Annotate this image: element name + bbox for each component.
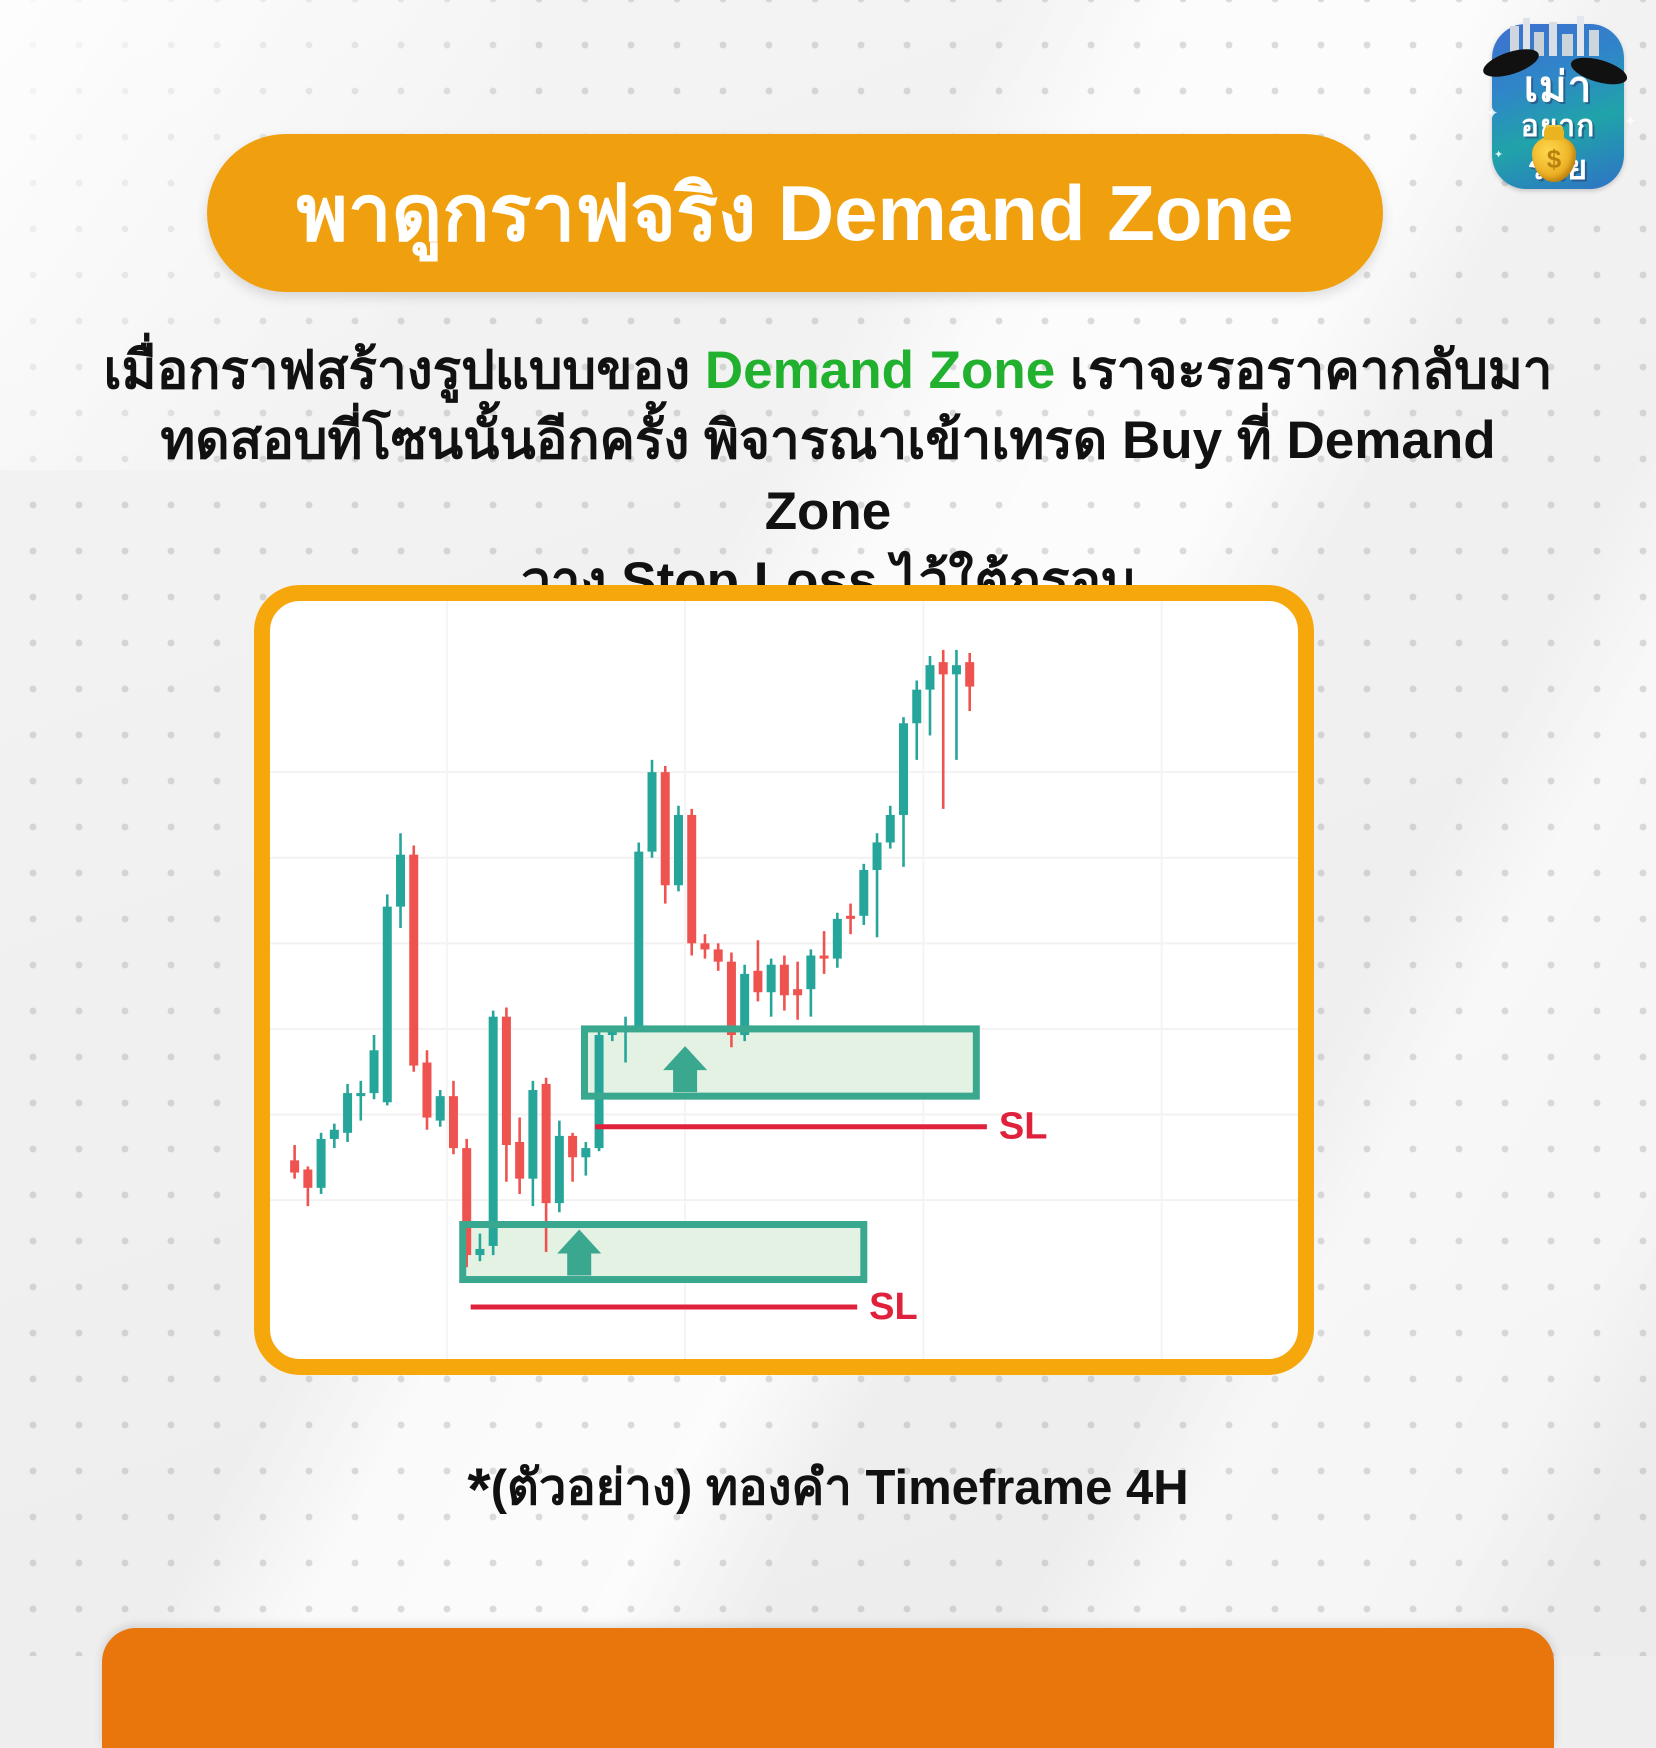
candle-body	[648, 772, 657, 851]
demand-zone-upper-fill	[585, 1029, 977, 1096]
chart-caption: *(ตัวอย่าง) ทองคำ Timeframe 4H	[0, 1448, 1656, 1526]
demand-zone-lower-fill	[463, 1225, 864, 1280]
candle-body	[925, 665, 934, 689]
candle-body	[542, 1084, 551, 1203]
body-line-2: ทดสอบที่โซนนั้นอีกครั้ง พิจารณาเข้าเทรด …	[90, 406, 1566, 547]
candle-body	[383, 907, 392, 1103]
candle-body	[714, 949, 723, 961]
bottom-accent-bar	[102, 1628, 1554, 1748]
candle-body	[767, 965, 776, 993]
candle-body	[409, 855, 418, 1066]
candle-body	[555, 1136, 564, 1203]
candle-body	[568, 1136, 577, 1157]
candle-body	[475, 1249, 484, 1255]
body-line-1-part-2: เราจะรอราคากลับมา	[1055, 341, 1552, 400]
asterisk-marker: *	[467, 1456, 490, 1523]
candle-body	[873, 842, 882, 870]
title-banner: พาดูกราฟจริง Demand Zone	[207, 134, 1383, 292]
candle-body	[727, 962, 736, 1035]
candle-body	[859, 870, 868, 916]
candle-body	[674, 815, 683, 885]
body-line-1: เมื่อกราฟสร้างรูปแบบของ Demand Zone เราจ…	[90, 336, 1566, 406]
candle-body	[886, 815, 895, 843]
candlestick-chart: SLSL	[270, 601, 1298, 1359]
candle-body	[449, 1096, 458, 1148]
candle-body	[528, 1090, 537, 1179]
candle-body	[846, 916, 855, 919]
candle-body	[330, 1130, 339, 1139]
demand-zone-highlight: Demand Zone	[705, 341, 1055, 400]
candle-body	[899, 723, 908, 815]
candle-body	[939, 662, 948, 674]
demand-zone-layer	[463, 1029, 977, 1280]
candle-body	[396, 855, 405, 907]
sl-upper-label: SL	[999, 1106, 1048, 1148]
candle-body	[833, 919, 842, 959]
candle-body	[634, 852, 643, 1029]
sparkle-icon: ✦	[1624, 112, 1637, 130]
sl-lower-label: SL	[869, 1286, 918, 1328]
page-title: พาดูกราฟจริง Demand Zone	[296, 174, 1293, 252]
chart-card: SLSL	[254, 585, 1314, 1375]
candlestick-layer	[290, 650, 974, 1267]
candle-body	[436, 1096, 445, 1120]
currency-symbol: $	[1532, 144, 1576, 175]
candle-body	[422, 1063, 431, 1118]
candle-body	[700, 943, 709, 949]
caption-text: (ตัวอย่าง) ทองคำ Timeframe 4H	[491, 1461, 1189, 1515]
brand-logo: ✦ ✦ ✦ เม่า อยาก รวย $	[1474, 8, 1642, 193]
candle-body	[661, 772, 670, 885]
candle-body	[793, 989, 802, 995]
candle-body	[687, 815, 696, 943]
candle-body	[820, 956, 829, 959]
candle-body	[317, 1139, 326, 1188]
candle-body	[753, 971, 762, 992]
candle-body	[806, 956, 815, 990]
candle-body	[502, 1017, 511, 1145]
candle-body	[965, 662, 974, 686]
candle-body	[595, 1035, 604, 1148]
candle-body	[370, 1050, 379, 1093]
candle-body	[912, 690, 921, 724]
chart-canvas: SLSL	[270, 601, 1298, 1359]
candle-body	[290, 1160, 299, 1172]
candle-body	[780, 965, 789, 996]
candle-body	[581, 1148, 590, 1157]
candle-body	[356, 1093, 365, 1096]
candle-body	[489, 1017, 498, 1246]
candle-body	[952, 665, 961, 674]
body-line-1-part-1: เมื่อกราฟสร้างรูปแบบของ	[103, 341, 704, 400]
candle-body	[515, 1142, 524, 1179]
candle-body	[303, 1170, 312, 1188]
candle-body	[343, 1093, 352, 1133]
body-paragraph: เมื่อกราฟสร้างรูปแบบของ Demand Zone เราจ…	[90, 336, 1566, 618]
